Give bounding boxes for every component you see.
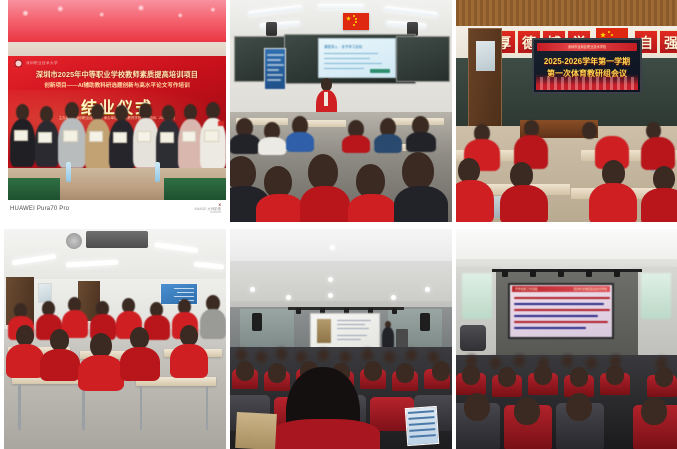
classroom-door bbox=[468, 28, 502, 128]
china-flag-icon bbox=[343, 13, 369, 30]
staff-seated-row-2 bbox=[456, 158, 677, 222]
slide-body-line bbox=[514, 315, 598, 317]
stage-lamp-icon bbox=[502, 270, 508, 277]
wall-glow-panel bbox=[641, 273, 671, 319]
banner-line-2: 创新项目——AI辅助教科研选题创新与高水平论文写作培训 bbox=[8, 81, 226, 89]
speaker-icon bbox=[252, 313, 262, 331]
green-table-left bbox=[8, 178, 60, 200]
downlight-icon bbox=[391, 295, 396, 300]
audience-near-rows bbox=[456, 393, 677, 449]
stage-lamp-icon bbox=[558, 270, 564, 277]
photo-6-image: 开学常规工作部署 深圳市龙岗区职业技术学校 bbox=[456, 229, 677, 449]
air-conditioner-unit bbox=[86, 231, 148, 248]
photo-cell-top-right[interactable]: 厚 德 博 学 自 强 深圳市龙岗区职业技术学校 2025-2026学年 bbox=[456, 0, 677, 222]
photo-cell-bottom-right[interactable]: 开学常规工作部署 深圳市龙岗区职业技术学校 bbox=[456, 229, 677, 449]
downlight-icon bbox=[330, 245, 335, 250]
watermark-meta: X XMAGE 大师影像 2025/08 bbox=[194, 202, 221, 215]
slide-header-band: 开学常规工作部署 深圳市龙岗区职业技术学校 bbox=[512, 286, 610, 292]
stage-lamp-icon bbox=[296, 308, 301, 314]
watermark-meta-line-2: 2025/08 bbox=[194, 211, 221, 215]
photo-cell-top-left[interactable]: 深圳职业技术大学 深圳市2025年中等职业学校教师素质提高培训项目 创新项目——… bbox=[8, 0, 226, 222]
photo-cell-bottom-middle[interactable] bbox=[230, 229, 452, 449]
photo-1-watermark-bar: HUAWEI Pura70 Pro X XMAGE 大师影像 2025/08 bbox=[8, 200, 226, 222]
door-window bbox=[476, 41, 495, 71]
slide-body-line bbox=[514, 327, 586, 329]
photo-3-image: 厚 德 博 学 自 强 深圳市龙岗区职业技术学校 2025-2026学年 bbox=[456, 0, 677, 222]
photo-2-image: 课程导入 · 本节学习目标 bbox=[230, 0, 452, 222]
people-row bbox=[8, 100, 226, 178]
participants-row-front bbox=[4, 317, 226, 385]
interactive-whiteboard[interactable]: 课程导入 · 本节学习目标 bbox=[318, 38, 396, 78]
stage-lamp-icon bbox=[392, 308, 397, 314]
slide-header-left: 开学常规工作部署 bbox=[515, 286, 537, 292]
desk-leg bbox=[206, 386, 209, 430]
desk-leg bbox=[18, 384, 21, 430]
foreground-person-shoulders bbox=[270, 419, 380, 449]
university-logo-icon bbox=[14, 59, 23, 68]
organizer-logo: 深圳职业技术大学 bbox=[14, 59, 58, 68]
water-bottle-left bbox=[66, 162, 71, 182]
downlight-icon bbox=[328, 293, 333, 298]
ceiling-light-icon bbox=[318, 4, 364, 9]
photo-1-image: 深圳职业技术大学 深圳市2025年中等职业学校教师素质提高培训项目 创新项目——… bbox=[8, 0, 226, 200]
wall-glow-panel bbox=[462, 273, 492, 319]
desk-leg bbox=[140, 386, 143, 430]
ceiling-mid bbox=[230, 261, 452, 303]
screen-header-band: 深圳市龙岗区职业技术学校 bbox=[537, 43, 637, 51]
presentation-screen[interactable]: 开学常规工作部署 深圳市龙岗区职业技术学校 bbox=[508, 283, 614, 339]
blackboard-right-panel bbox=[396, 36, 450, 82]
green-table-right bbox=[164, 178, 226, 200]
slide-body-line bbox=[514, 309, 610, 311]
downlight-icon bbox=[328, 277, 333, 282]
projection-screen[interactable] bbox=[310, 313, 380, 349]
stage-lamp-icon bbox=[614, 270, 620, 277]
wooden-ceiling bbox=[456, 0, 677, 28]
speaker-icon bbox=[420, 313, 430, 331]
slide-body-line bbox=[514, 321, 608, 323]
students-row-front bbox=[230, 150, 452, 222]
screen-header-text: 深圳市龙岗区职业技术学校 bbox=[537, 43, 637, 51]
side-chair bbox=[460, 325, 486, 351]
screen-line-1: 2025-2026学年第一学期 bbox=[534, 56, 640, 67]
led-ceiling-panel bbox=[8, 0, 226, 44]
students-row-back bbox=[230, 108, 452, 148]
downlight-icon bbox=[286, 295, 291, 300]
downlight-icon bbox=[250, 287, 255, 292]
photo-cell-bottom-left[interactable] bbox=[4, 229, 226, 449]
slide-header-right: 深圳市龙岗区职业技术学校 bbox=[573, 286, 607, 292]
photo-5-image bbox=[230, 229, 452, 449]
paper-bag bbox=[235, 412, 277, 449]
speaker-icon bbox=[266, 22, 277, 36]
photo-cell-top-middle[interactable]: 课程导入 · 本节学习目标 bbox=[230, 0, 452, 222]
presentation-screen[interactable]: 深圳市龙岗区职业技术学校 2025-2026学年第一学期 第一次体育教研组会议 bbox=[532, 38, 642, 94]
slide-body-line bbox=[514, 297, 610, 299]
whiteboard-slide-title: 课程导入 · 本节学习目标 bbox=[324, 44, 363, 49]
banner-org-name: 深圳职业技术大学 bbox=[26, 61, 58, 66]
stage-lamp-icon bbox=[530, 270, 536, 277]
class-notice-board bbox=[264, 48, 286, 90]
ceiling-upper bbox=[230, 229, 452, 263]
screen-skyline-graphic bbox=[536, 74, 638, 90]
wall-slogan-char: 强 bbox=[659, 30, 677, 54]
downlight-icon bbox=[425, 287, 430, 292]
watermark-device-label: HUAWEI Pura70 Pro bbox=[10, 206, 69, 212]
ceiling-fan-icon bbox=[66, 233, 82, 249]
photo-4-image bbox=[4, 229, 226, 449]
leaflet-flyer bbox=[405, 406, 440, 446]
water-bottle-right bbox=[155, 162, 160, 182]
photo-collage: 深圳职业技术大学 深圳市2025年中等职业学校教师素质提高培训项目 创新项目——… bbox=[0, 0, 677, 449]
banner-line-1: 深圳市2025年中等职业学校教师素质提高培训项目 bbox=[8, 70, 226, 80]
slide-image bbox=[317, 319, 331, 343]
stage-lamp-icon bbox=[586, 270, 592, 277]
slide-body-line bbox=[514, 303, 604, 305]
